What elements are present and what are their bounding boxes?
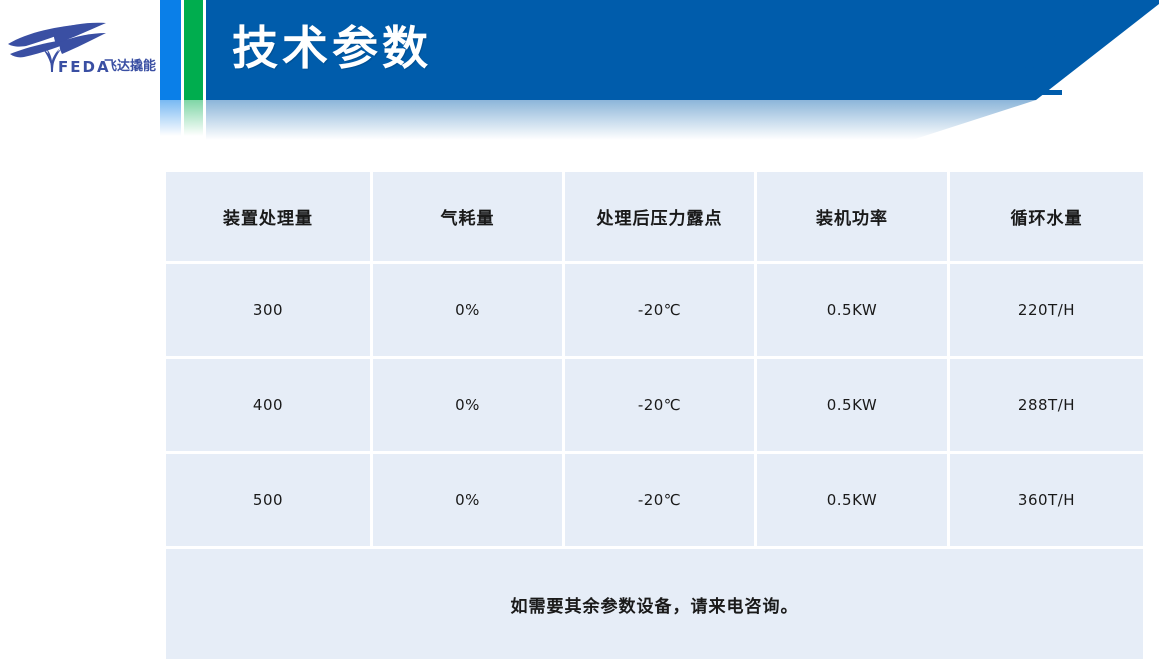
- table-footer: 如需要其余参数设备，请来电咨询。: [166, 549, 1143, 662]
- cell-water-volume: 360T/H: [950, 454, 1143, 549]
- cell-gas-consumption: 0%: [373, 264, 565, 359]
- logo-brand-latin: FEDA: [58, 58, 111, 76]
- cell-gas-consumption: 0%: [373, 359, 565, 454]
- logo-brand-chinese: 飞达撬能: [104, 55, 156, 74]
- cell-power: 0.5KW: [757, 454, 950, 549]
- table-footer-row: 如需要其余参数设备，请来电咨询。: [166, 549, 1143, 662]
- column-header-water-volume: 循环水量: [950, 172, 1143, 264]
- cell-dew-point: -20℃: [565, 264, 757, 359]
- footer-note: 如需要其余参数设备，请来电咨询。: [166, 549, 1143, 662]
- table-body: 300 0% -20℃ 0.5KW 220T/H 400 0% -20℃ 0.5…: [166, 264, 1143, 549]
- table-row: 500 0% -20℃ 0.5KW 360T/H: [166, 454, 1143, 549]
- table-header-row: 装置处理量 气耗量 处理后压力露点 装机功率 循环水量: [166, 172, 1143, 264]
- table-row: 300 0% -20℃ 0.5KW 220T/H: [166, 264, 1143, 359]
- cell-dew-point: -20℃: [565, 454, 757, 549]
- page-title: 技术参数: [232, 18, 432, 78]
- title-banner-reflection: [206, 100, 1159, 140]
- accent-bar-blue: [160, 0, 181, 100]
- spec-table-container: 装置处理量 气耗量 处理后压力露点 装机功率 循环水量 300 0% -20℃ …: [166, 172, 1143, 662]
- cell-water-volume: 288T/H: [950, 359, 1143, 454]
- cell-dew-point: -20℃: [565, 359, 757, 454]
- accent-bar-green: [184, 0, 203, 100]
- column-header-gas-consumption: 气耗量: [373, 172, 565, 264]
- title-banner: 技术参数: [206, 0, 1159, 100]
- cell-power: 0.5KW: [757, 264, 950, 359]
- cell-gas-consumption: 0%: [373, 454, 565, 549]
- accent-bar-green-reflection: [184, 100, 203, 136]
- page-header: FEDA 飞达撬能 技术参数: [0, 0, 1159, 140]
- cell-water-volume: 220T/H: [950, 264, 1143, 359]
- column-header-power: 装机功率: [757, 172, 950, 264]
- cell-power: 0.5KW: [757, 359, 950, 454]
- technical-parameters-table: 装置处理量 气耗量 处理后压力露点 装机功率 循环水量 300 0% -20℃ …: [166, 172, 1143, 662]
- column-header-capacity: 装置处理量: [166, 172, 373, 264]
- cell-capacity: 300: [166, 264, 373, 359]
- table-row: 400 0% -20℃ 0.5KW 288T/H: [166, 359, 1143, 454]
- cell-capacity: 400: [166, 359, 373, 454]
- table-header-row-group: 装置处理量 气耗量 处理后压力露点 装机功率 循环水量: [166, 172, 1143, 264]
- cell-capacity: 500: [166, 454, 373, 549]
- accent-bar-blue-reflection: [160, 100, 181, 136]
- column-header-dew-point: 处理后压力露点: [565, 172, 757, 264]
- company-logo: FEDA 飞达撬能: [6, 22, 156, 84]
